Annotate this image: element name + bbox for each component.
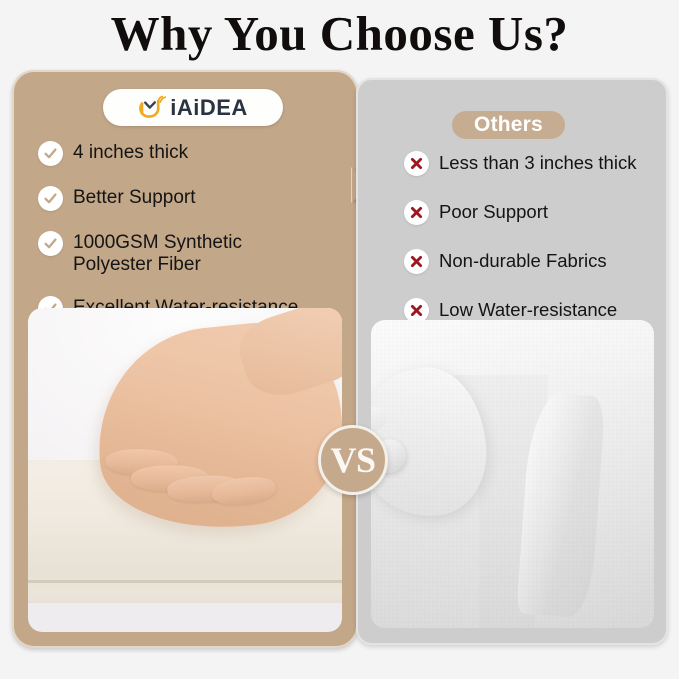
others-badge: Others: [452, 111, 565, 139]
check-icon: [38, 231, 63, 256]
x-icon: [404, 200, 429, 225]
list-item: 1000GSM Synthetic Polyester Fiber: [38, 230, 346, 276]
iaidea-m-signal-logo-icon: [138, 94, 168, 122]
vs-badge: VS: [318, 425, 388, 495]
list-item-label: Low Water-resistance: [439, 297, 617, 320]
list-item-label: Poor Support: [439, 199, 548, 222]
list-item-label: Better Support: [73, 185, 196, 209]
page-title: Why You Choose Us?: [0, 8, 679, 61]
check-icon: [38, 186, 63, 211]
x-icon: [404, 249, 429, 274]
infographic-stage: Why You Choose Us? iAiDEA 4 inc: [0, 0, 679, 679]
list-item-label: 4 inches thick: [73, 140, 188, 164]
others-feature-list: Less than 3 inches thick Poor Support No…: [404, 150, 666, 346]
list-item-label: 1000GSM Synthetic Polyester Fiber: [73, 230, 293, 276]
foam-texture: [371, 320, 654, 628]
list-item-label: Less than 3 inches thick: [439, 150, 636, 173]
x-icon: [404, 151, 429, 176]
list-item: Poor Support: [404, 199, 666, 225]
list-item: 4 inches thick: [38, 140, 346, 166]
list-item: Better Support: [38, 185, 346, 211]
others-product-photo: [371, 320, 654, 628]
brand-logo-text: iAiDEA: [170, 95, 248, 121]
list-item: Non-durable Fabrics: [404, 248, 666, 274]
check-icon: [38, 141, 63, 166]
list-item-label: Non-durable Fabrics: [439, 248, 607, 271]
brand-logo-pill: iAiDEA: [103, 89, 283, 126]
brand-product-photo: [28, 308, 342, 632]
mattress-seam: [28, 580, 342, 583]
list-item: Less than 3 inches thick: [404, 150, 666, 176]
